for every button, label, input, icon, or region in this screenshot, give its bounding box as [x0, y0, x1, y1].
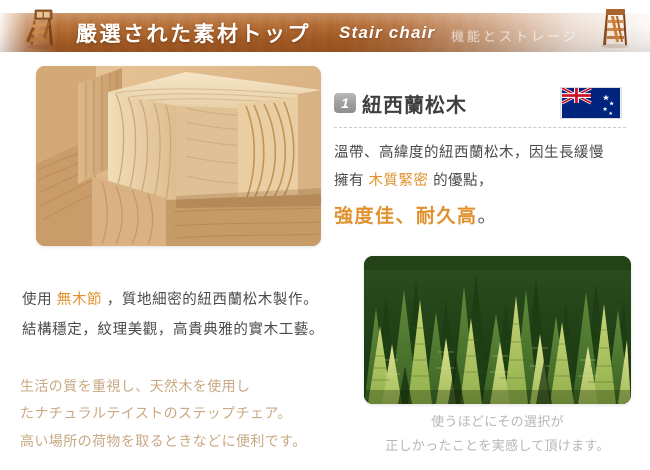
- japanese-line-2: たナチュラルテイストのステップチェア。: [20, 401, 340, 428]
- section-divider: [334, 127, 626, 128]
- page-title: 嚴選された素材トップ: [76, 18, 311, 48]
- product-desc-line-2: 結構穩定，紋理美觀，高貴典雅的實木工藝。: [22, 316, 334, 346]
- material-desc-line-1: 溫帶、高緯度的紐西蘭松木，因生長緩慢: [334, 139, 634, 167]
- material-description: 溫帶、高緯度的紐西蘭松木，因生長緩慢 擁有 木質緊密 的優點， 強度佳、耐久高。: [334, 139, 634, 235]
- desc-line2-post: 的優點，: [433, 173, 493, 189]
- product-description: 使用 無木節 ，質地細密的紐西蘭松木製作。 結構穩定，紋理美觀，高貴典雅的實木工…: [22, 286, 334, 345]
- info-header-row: 1 紐西蘭松木: [334, 86, 634, 120]
- ladder-chair-icon: [22, 1, 66, 51]
- pine-forest-photo: [364, 256, 631, 404]
- banner-japanese-subtitle: 機能とストレージ: [451, 26, 579, 45]
- desc-line2-highlight: 木質緊密: [369, 173, 429, 189]
- banner-english-title: Stair chair: [339, 23, 435, 43]
- forest-caption: 使うほどにその選択が 正しかったことを実感して頂けます。: [364, 410, 631, 458]
- product-desc-line-1: 使用 無木節 ，質地細密的紐西蘭松木製作。: [22, 286, 334, 316]
- forest-caption-line-1: 使うほどにその選択が: [364, 410, 631, 434]
- product-desc-post: ，質地細密的紐西蘭松木製作。: [107, 292, 318, 308]
- forest-caption-line-2: 正しかったことを実感して頂けます。: [364, 434, 631, 458]
- product-desc-pre: 使用: [22, 292, 52, 308]
- japanese-description: 生活の質を重視し、天然木を使用し たナチュラルテイストのステップチェア。 高い場…: [20, 374, 340, 456]
- japanese-line-1: 生活の質を重視し、天然木を使用し: [20, 374, 340, 401]
- page-header: 嚴選された素材トップ Stair chair 機能とストレージ: [0, 0, 650, 58]
- material-desc-line-2: 擁有 木質緊密 的優點，: [334, 167, 634, 195]
- number-badge-icon: 1: [334, 93, 356, 113]
- material-info-panel: 1 紐西蘭松木 溫帶、高緯度的紐西蘭松木，因生長緩慢 擁有 木質緊密: [334, 86, 634, 235]
- new-zealand-flag: [560, 87, 622, 119]
- japanese-line-3: 高い場所の荷物を取るときなどに便利です。: [20, 429, 340, 456]
- product-desc-highlight: 無木節: [57, 292, 102, 308]
- desc-line2-pre: 擁有: [334, 173, 364, 189]
- strength-period: 。: [478, 206, 499, 227]
- material-name: 紐西蘭松木: [362, 89, 467, 118]
- strength-text: 強度佳、耐久高: [334, 206, 478, 227]
- material-strength-line: 強度佳、耐久高。: [334, 198, 634, 235]
- ladder-chair-icon: [594, 0, 638, 50]
- pine-timber-photo: [36, 66, 321, 246]
